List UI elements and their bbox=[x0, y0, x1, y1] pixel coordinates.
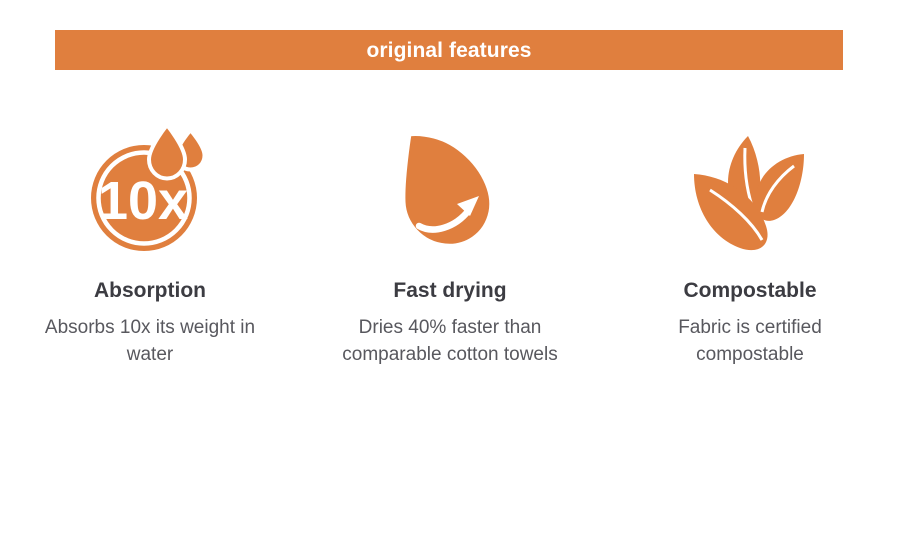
banner: original features bbox=[55, 30, 843, 70]
banner-title: original features bbox=[366, 40, 531, 61]
feature-absorption: 10x Absorption Absorbs 10x its weight in… bbox=[0, 118, 300, 369]
feature-compostable: Compostable Fabric is certified composta… bbox=[600, 118, 900, 369]
features-row: 10x Absorption Absorbs 10x its weight in… bbox=[0, 118, 900, 369]
ten-x-droplet-icon: 10x bbox=[75, 118, 225, 258]
infographic-page: original features 10x Absorption bbox=[0, 0, 900, 540]
feature-title: Compostable bbox=[683, 280, 816, 301]
feature-description: Fabric is certified compostable bbox=[643, 315, 858, 369]
ten-x-label: 10x bbox=[98, 171, 188, 231]
leaves-icon bbox=[675, 118, 825, 258]
feature-fast-drying: Fast drying Dries 40% faster than compar… bbox=[300, 118, 600, 369]
feature-description: Absorbs 10x its weight in water bbox=[43, 315, 258, 369]
feature-title: Absorption bbox=[94, 280, 206, 301]
feature-description: Dries 40% faster than comparable cotton … bbox=[325, 315, 575, 369]
feature-title: Fast drying bbox=[393, 280, 506, 301]
droplet-arrow-icon bbox=[375, 118, 525, 258]
